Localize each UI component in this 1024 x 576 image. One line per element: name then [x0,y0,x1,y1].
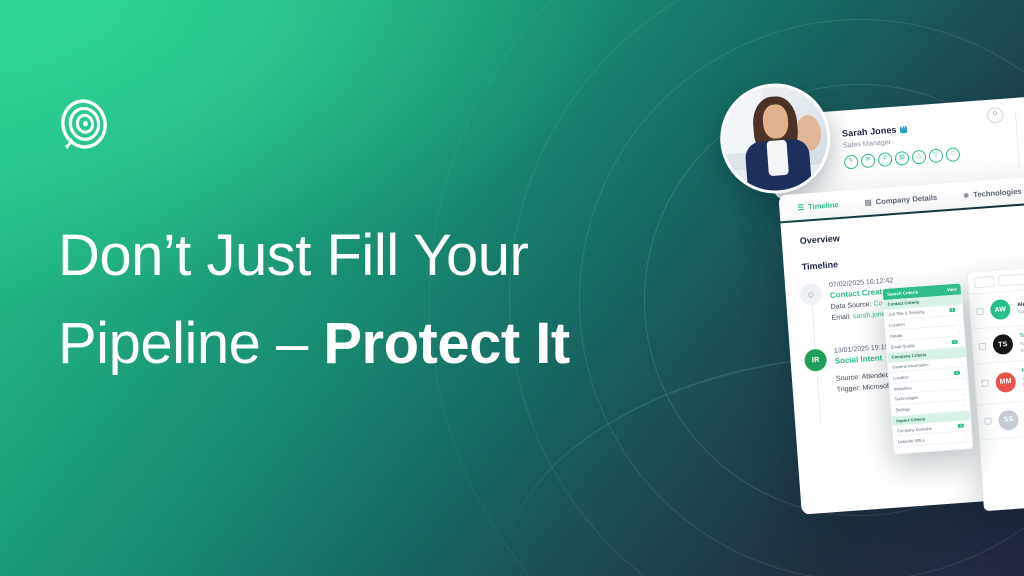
headline-line-2-regular: Pipeline – [58,311,323,376]
search-criteria-panel: Search Criteria View Contact Criteria Jo… [882,282,974,454]
counter-badge: 0 [987,107,1004,124]
chevron-right-icon: › [964,403,966,408]
result-subtitle: Sales Mana [1020,339,1024,346]
chevron-right-icon: › [966,434,968,439]
note-icon[interactable]: ▤ [895,151,910,166]
intent-icon: IR [804,348,828,372]
result-name: Tatiana So [1019,332,1024,340]
headline-line-2-bold: Protect It [323,311,569,376]
chevron-right-icon: › [961,360,963,365]
criteria-label: Location [889,322,905,328]
result-location: Spain, Madr [1020,346,1024,353]
contact-identity: Sarah Jones Sales Manager ✎ ✉ ✆ ▤ △ ▽ ⌂ [842,120,961,169]
row-checkbox[interactable] [982,380,989,387]
event-meta-label: Email: [831,313,851,321]
row-checkbox[interactable] [976,307,983,314]
edit-icon[interactable]: ✎ [844,155,859,170]
headline-line-2: Pipeline – Protect It [58,300,678,388]
criteria-label: Email Quality [891,342,915,349]
headline-line-1: Don’t Just Fill Your [58,212,678,300]
row-checkbox[interactable] [984,418,991,425]
criteria-label: Company Domains [897,426,932,434]
tab-technologies[interactable]: ⋇ Technologies [963,186,1022,199]
criteria-label: Job Title & Seniority [888,309,924,317]
tab-timeline-label: Timeline [808,200,839,211]
tab-company-details[interactable]: ▤ Company Details [864,192,937,206]
criteria-count: 3 [950,308,955,312]
criteria-label: Technologies [895,395,919,402]
tab-timeline[interactable]: ☰ Timeline [797,200,839,212]
contact-avatar-photo [716,80,834,198]
building-icon: ▤ [864,197,872,206]
result-name: Alexis Wag [1017,300,1024,308]
criteria-label: Settings [895,407,910,413]
chevron-right-icon: › [958,328,960,333]
slide-canvas: Don’t Just Fill Your Pipeline – Protect … [0,0,1024,576]
criteria-label: Location [893,374,909,380]
email-icon[interactable]: ✉ [861,153,876,168]
criteria-label: LinkedIn URLs [898,437,925,444]
avatar: AW [990,299,1011,320]
spiral-target-logo [56,96,112,152]
chevron-right-icon: › [959,339,961,344]
avatar: SS [998,409,1019,430]
tab-technologies-label: Technologies [973,186,1022,199]
chevron-right-icon: › [961,370,963,375]
filter-icon[interactable]: ▽ [928,148,943,163]
person-add-icon: ☺ [799,283,823,307]
contact-action-icons: ✎ ✉ ✆ ▤ △ ▽ ⌂ [844,147,961,169]
criteria-count: 4 [958,424,963,428]
event-meta-label: Source: [836,374,861,383]
tab-company-details-label: Company Details [875,192,937,205]
event-meta-label: Trigger: [837,385,861,394]
linkedin-icon[interactable] [899,125,906,132]
headline: Don’t Just Fill Your Pipeline – Protect … [58,212,678,388]
avatar: MM [995,372,1016,393]
result-subtitle: Sales Mana [1017,307,1024,314]
timeline-heading: Timeline [801,259,838,272]
chevron-right-icon: › [958,318,960,323]
search-criteria-title: Search Criteria [887,290,919,297]
criteria-label: Industries [894,385,912,391]
product-mockup: 0 Sarah Jones Sales Manager ✎ ✉ ✆ ▤ △ ▽ [768,77,1024,527]
chevron-right-icon: › [963,392,965,397]
criteria-label: Details [890,333,903,339]
chevron-right-icon: › [957,307,959,312]
brand-logo [56,96,112,152]
search-criteria-view-link[interactable]: View [947,287,957,293]
avatar: TS [992,334,1013,355]
list-icon: ☰ [797,202,804,211]
bell-icon[interactable]: △ [912,150,927,165]
overview-heading: Overview [799,233,840,246]
chevron-right-icon: › [962,381,964,386]
criteria-count: 2 [952,340,957,344]
header-divider [1015,112,1020,168]
chevron-right-icon: › [965,423,967,428]
nodes-icon: ⋇ [963,190,970,199]
select-all-control[interactable] [974,276,995,288]
share-icon[interactable]: ⌂ [945,147,960,162]
phone-icon[interactable]: ✆ [878,152,893,167]
event-meta-label: Data Source: [831,301,872,311]
row-checkbox[interactable] [979,342,986,349]
criteria-count: 1 [954,371,959,375]
criteria-label: General Information [892,362,928,370]
